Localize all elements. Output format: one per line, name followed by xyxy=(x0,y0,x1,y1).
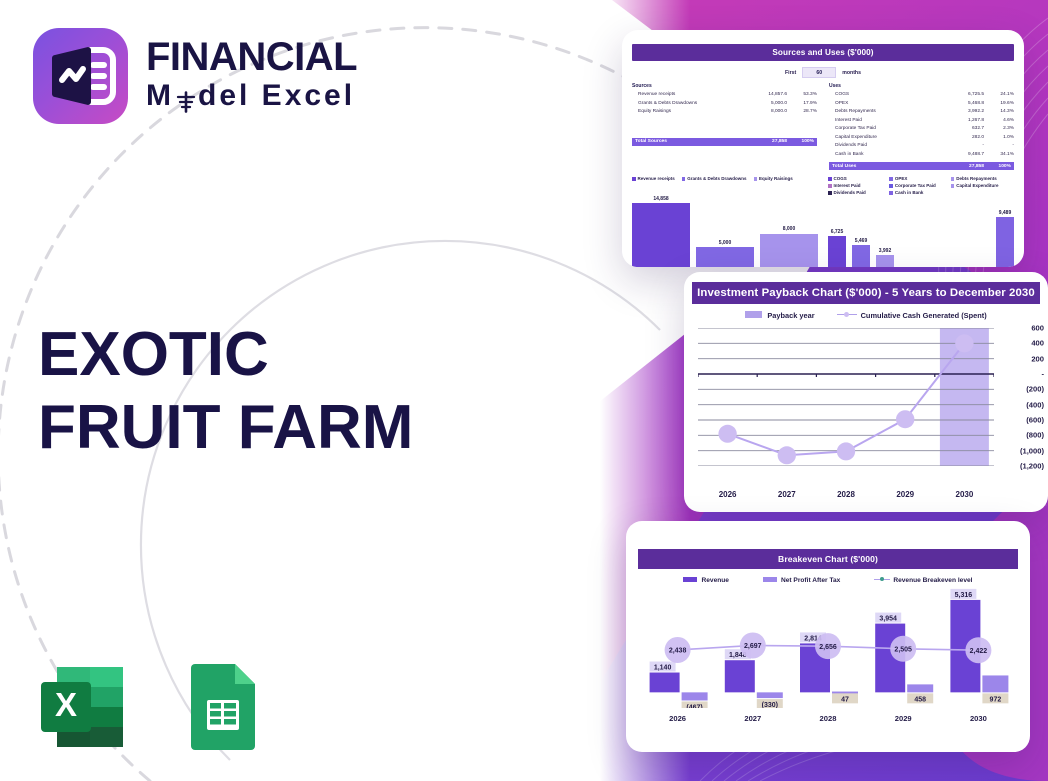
payback-plot: 600400200-(200)(400)(600)(800)(1,000)(1,… xyxy=(698,328,994,466)
revenue-value-label: 1,140 xyxy=(654,665,672,672)
sources-row-value: 8,000.0 xyxy=(745,108,787,117)
y-axis-tick-label: (600) xyxy=(1026,416,1044,425)
bar-column: 5,469 xyxy=(852,201,870,267)
uses-row-value: 9,488.7 xyxy=(942,151,984,160)
legend-line-marker xyxy=(874,576,890,582)
npat-value-label: 458 xyxy=(914,696,926,703)
x-axis-tick-label: 2026 xyxy=(640,714,715,723)
bar-column: 3,992 xyxy=(876,201,894,267)
table-row: Interest Paid1,267.84.6% xyxy=(829,117,1014,126)
brand-lockup: FINANCIAL M del Excel xyxy=(33,28,357,124)
breakeven-title: Breakeven Chart ($'000) xyxy=(638,549,1018,569)
npat-value-label: (467) xyxy=(686,704,702,708)
left-content-column: FINANCIAL M del Excel xyxy=(0,0,470,781)
table-row: Debts Repayments3,992.214.3% xyxy=(829,108,1014,117)
y-axis-tick-label: - xyxy=(1041,370,1044,379)
bar-value-label: 14,858 xyxy=(653,196,668,202)
bar-column: 0 xyxy=(972,201,990,267)
svg-text:X: X xyxy=(55,686,77,723)
uses-row-pct: 1.0% xyxy=(984,134,1014,143)
data-point-marker xyxy=(837,442,855,460)
y-axis-tick-label: (1,200) xyxy=(1020,462,1044,471)
microsoft-excel-icon: X xyxy=(33,658,131,756)
data-point-marker xyxy=(896,410,914,428)
sources-row-pct: 17.9% xyxy=(787,100,817,109)
uses-row-value: 5,468.8 xyxy=(942,100,984,109)
bar xyxy=(760,234,818,267)
legend-label: Payback year xyxy=(767,311,814,320)
revenue-bar xyxy=(725,660,755,692)
legend-swatch xyxy=(828,191,832,195)
sources-total-value: 27,858 xyxy=(745,139,787,144)
x-axis-tick-label: 2027 xyxy=(715,714,790,723)
uses-row-pct: 34.1% xyxy=(984,151,1014,160)
uses-row-pct: 19.6% xyxy=(984,100,1014,109)
x-axis-tick-label: 2028 xyxy=(816,490,875,499)
uses-row-value: 6,725.5 xyxy=(942,91,984,100)
y-axis-tick-label: (400) xyxy=(1026,400,1044,409)
table-row: Grants & Debts Drawdowns5,000.017.9% xyxy=(632,100,817,109)
period-selector[interactable]: First 60 months xyxy=(622,67,1024,78)
bar-column: 633 xyxy=(924,201,942,267)
legend-item: Debts Repayments xyxy=(951,176,1012,181)
legend-label: Corporate Tax Paid xyxy=(895,183,936,188)
legend-swatch xyxy=(889,177,893,181)
uses-total-value: 27,858 xyxy=(942,164,984,169)
revenue-bar xyxy=(650,673,680,693)
x-axis-tick-label: 2029 xyxy=(876,490,935,499)
breakeven-x-axis-labels: 20262027202820292030 xyxy=(640,714,1016,723)
legend-swatch xyxy=(682,177,686,181)
legend-label: Revenue receipts xyxy=(638,176,675,181)
bar-value-label: 5,469 xyxy=(855,238,868,244)
breakeven-value-label: 2,422 xyxy=(970,648,988,655)
uses-row-label: Dividends Paid xyxy=(829,142,942,151)
legend-swatch xyxy=(828,177,832,181)
investment-payback-card: Investment Payback Chart ($'000) - 5 Yea… xyxy=(684,272,1048,512)
uses-row-label: Debts Repayments xyxy=(829,108,942,117)
legend-swatch xyxy=(754,177,758,181)
npat-value-label: 972 xyxy=(990,696,1002,703)
bar xyxy=(696,247,754,267)
data-point-marker xyxy=(955,334,973,352)
google-sheets-icon xyxy=(173,658,271,756)
sources-and-uses-card: Sources and Uses ($'000) First 60 months… xyxy=(622,30,1024,267)
legend-label: COGS xyxy=(834,176,847,181)
revenue-value-label: 5,316 xyxy=(955,592,973,599)
brand-o-glyph-icon xyxy=(175,85,197,107)
uses-row-label: Interest Paid xyxy=(829,117,942,126)
breakeven-value-label: 2,697 xyxy=(744,643,762,650)
poster-canvas: FINANCIAL M del Excel xyxy=(0,0,1048,781)
uses-row-value: 1,267.8 xyxy=(942,117,984,126)
table-row: COGS6,725.524.1% xyxy=(829,91,1014,100)
revenue-value-label: 3,954 xyxy=(879,616,897,623)
legend-swatch xyxy=(828,184,832,188)
net-profit-after-tax-bar xyxy=(982,675,1008,692)
breakeven-legend: RevenueNet Profit After TaxRevenue Break… xyxy=(626,576,1030,584)
breakeven-card: Breakeven Chart ($'000) RevenueNet Profi… xyxy=(626,521,1030,752)
table-row: Cash in Bank9,488.734.1% xyxy=(829,151,1014,160)
legend-line-marker xyxy=(837,311,857,318)
bar-value-label: 3,992 xyxy=(879,248,892,254)
payback-x-axis-labels: 20262027202820292030 xyxy=(698,490,994,499)
legend-item: Cumulative Cash Generated (Spent) xyxy=(837,311,987,320)
x-axis-tick-label: 2027 xyxy=(757,490,816,499)
breakeven-chart-svg: 1,140(467)1,848(330)2,814473,9544585,316… xyxy=(640,588,1016,708)
legend-label: Dividends Paid xyxy=(834,190,866,195)
payback-title: Investment Payback Chart ($'000) - 5 Yea… xyxy=(692,282,1040,304)
legend-item: Revenue Breakeven level xyxy=(874,576,972,584)
bar-column: 5,000 xyxy=(696,187,754,267)
data-point-marker xyxy=(718,425,736,443)
uses-row-pct: 4.6% xyxy=(984,117,1014,126)
table-row: Corporate Tax Paid632.72.3% xyxy=(829,125,1014,134)
breakeven-value-label: 2,505 xyxy=(894,646,912,653)
uses-header: Uses xyxy=(829,83,1014,89)
bar-value-label: 6,725 xyxy=(831,229,844,235)
payback-y-axis-labels: 600400200-(200)(400)(600)(800)(1,000)(1,… xyxy=(996,328,1044,466)
uses-chart-legend: COGSOPEXDebts RepaymentsInterest PaidCor… xyxy=(828,176,1014,197)
x-axis-tick-label: 2029 xyxy=(866,714,941,723)
sources-spacer xyxy=(632,117,817,135)
net-profit-after-tax-bar xyxy=(907,684,933,692)
legend-label: OPEX xyxy=(895,176,908,181)
uses-row-label: Capital Expenditure xyxy=(829,134,942,143)
legend-item: Net Profit After Tax xyxy=(763,577,840,584)
legend-item: OPEX xyxy=(889,176,950,181)
period-prefix-label: First xyxy=(785,70,796,76)
uses-row-label: Cash in Bank xyxy=(829,151,942,160)
table-row: OPEX5,468.819.6% xyxy=(829,100,1014,109)
legend-item: Payback year xyxy=(745,311,814,320)
table-row: Capital Expenditure282.01.0% xyxy=(829,134,1014,143)
bar-column: 282 xyxy=(948,201,966,267)
sources-row-value: 14,857.6 xyxy=(745,91,787,100)
sources-row-label: Revenue receipts xyxy=(632,91,745,100)
brand-name-line2-pre: M xyxy=(146,77,174,115)
uses-row-label: Corporate Tax Paid xyxy=(829,125,942,134)
legend-item: Dividends Paid xyxy=(828,190,889,195)
financial-model-excel-logo-icon xyxy=(33,28,128,124)
uses-total-pct: 100% xyxy=(984,164,1014,169)
uses-bars: 6,7255,4693,9921,26863328209,489 xyxy=(828,197,1014,267)
uses-bar-chart: COGSOPEXDebts RepaymentsInterest PaidCor… xyxy=(828,176,1014,267)
legend-swatch xyxy=(683,577,697,582)
x-axis-tick-label: 2026 xyxy=(698,490,757,499)
net-profit-after-tax-bar xyxy=(757,692,783,698)
table-row: Equity Raisings8,000.028.7% xyxy=(632,108,817,117)
breakeven-value-label: 2,656 xyxy=(819,644,837,651)
uses-row-label: COGS xyxy=(829,91,942,100)
bar-column: 8,000 xyxy=(760,187,818,267)
sources-row-pct: 28.7% xyxy=(787,108,817,117)
legend-label: Revenue Breakeven level xyxy=(893,577,972,584)
npat-value-label: 47 xyxy=(841,696,849,703)
legend-item: COGS xyxy=(828,176,889,181)
bar-value-label: 5,000 xyxy=(719,240,732,246)
legend-swatch xyxy=(763,577,777,582)
legend-item: Revenue xyxy=(683,577,729,584)
legend-swatch xyxy=(889,191,893,195)
legend-swatch xyxy=(632,177,636,181)
brand-name-line2: M del Excel xyxy=(146,77,357,115)
sources-total-row: Total Sources 27,858 100% xyxy=(632,138,817,146)
legend-item: Grants & Debts Drawdowns xyxy=(682,176,747,181)
x-axis-tick-label: 2028 xyxy=(790,714,865,723)
cumulative-cash-line xyxy=(728,343,965,455)
legend-item: Interest Paid xyxy=(828,183,889,188)
sources-table: Sources Revenue receipts14,857.653.3%Gra… xyxy=(632,83,817,170)
sources-total-pct: 100% xyxy=(787,139,817,144)
payback-chart-svg xyxy=(698,328,994,466)
uses-row-value: 3,992.2 xyxy=(942,108,984,117)
x-axis-tick-label: 2030 xyxy=(935,490,994,499)
x-axis-tick-label: 2030 xyxy=(941,714,1016,723)
y-axis-tick-label: (1,000) xyxy=(1020,446,1044,455)
sources-uses-title: Sources and Uses ($'000) xyxy=(632,44,1014,61)
uses-row-value: - xyxy=(942,142,984,151)
bar xyxy=(996,217,1014,267)
legend-label: Cumulative Cash Generated (Spent) xyxy=(861,311,987,320)
y-axis-tick-label: (200) xyxy=(1026,385,1044,394)
legend-swatch xyxy=(951,184,955,188)
bar-column: 1,268 xyxy=(900,201,918,267)
net-profit-after-tax-bar xyxy=(682,692,708,700)
brand-name-line1: FINANCIAL xyxy=(146,37,357,77)
y-axis-tick-label: (800) xyxy=(1026,431,1044,440)
page-title: EXOTIC FRUIT FARM xyxy=(38,318,468,464)
data-point-marker xyxy=(778,446,796,464)
uses-row-pct: 14.3% xyxy=(984,108,1014,117)
legend-swatch xyxy=(951,177,955,181)
uses-row-pct: - xyxy=(984,142,1014,151)
sources-total-label: Total Sources xyxy=(632,139,745,144)
y-axis-tick-label: 400 xyxy=(1031,339,1044,348)
sources-row-pct: 53.3% xyxy=(787,91,817,100)
bar xyxy=(632,203,690,267)
npat-value-label: (330) xyxy=(762,702,778,708)
bar xyxy=(828,236,846,267)
sources-uses-charts: Revenue receiptsGrants & Debts Drawdowns… xyxy=(622,170,1024,267)
payback-legend: Payback yearCumulative Cash Generated (S… xyxy=(684,311,1048,320)
y-axis-tick-label: 600 xyxy=(1031,324,1044,333)
bar xyxy=(852,245,870,267)
uses-row-pct: 24.1% xyxy=(984,91,1014,100)
sources-chart-legend: Revenue receiptsGrants & Debts Drawdowns… xyxy=(632,176,818,183)
brand-name-line2-post: del Excel xyxy=(198,77,355,115)
bar-column: 6,725 xyxy=(828,201,846,267)
sources-row-label: Grants & Debts Drawdowns xyxy=(632,100,745,109)
legend-label: Revenue xyxy=(701,577,729,584)
legend-item: Capital Expenditure xyxy=(951,183,1012,188)
uses-row-value: 632.7 xyxy=(942,125,984,134)
bar xyxy=(876,255,894,267)
legend-item: Equity Raisings xyxy=(754,176,793,181)
y-axis-tick-label: 200 xyxy=(1031,354,1044,363)
period-months-input[interactable]: 60 xyxy=(802,67,836,78)
sources-header: Sources xyxy=(632,83,817,89)
bar-value-label: 8,000 xyxy=(783,226,796,232)
sources-bar-chart: Revenue receiptsGrants & Debts Drawdowns… xyxy=(632,176,818,267)
legend-item: Revenue receipts xyxy=(632,176,675,181)
legend-label: Interest Paid xyxy=(834,183,861,188)
uses-row-pct: 2.3% xyxy=(984,125,1014,134)
legend-label: Grants & Debts Drawdowns xyxy=(687,176,746,181)
period-suffix-label: months xyxy=(842,70,861,76)
legend-item: Cash in Bank xyxy=(889,190,950,195)
sources-bars: 14,8585,0008,000 xyxy=(632,183,818,267)
legend-label: Capital Expenditure xyxy=(956,183,998,188)
sources-row-label: Equity Raisings xyxy=(632,108,745,117)
uses-total-label: Total Uses xyxy=(829,164,942,169)
table-row: Dividends Paid-- xyxy=(829,142,1014,151)
legend-swatch xyxy=(745,311,762,318)
bar-column: 9,489 xyxy=(996,201,1014,267)
legend-label: Cash in Bank xyxy=(895,190,924,195)
legend-item: Corporate Tax Paid xyxy=(889,183,950,188)
table-row: Revenue receipts14,857.653.3% xyxy=(632,91,817,100)
net-profit-after-tax-bar xyxy=(832,692,858,694)
legend-label: Net Profit After Tax xyxy=(781,577,840,584)
sources-uses-tables: Sources Revenue receipts14,857.653.3%Gra… xyxy=(622,78,1024,170)
supported-apps: X xyxy=(33,658,271,756)
breakeven-value-label: 2,438 xyxy=(669,648,687,655)
uses-total-row: Total Uses 27,858 100% xyxy=(829,162,1014,170)
breakeven-plot: 1,140(467)1,848(330)2,814473,9544585,316… xyxy=(640,588,1016,708)
bar-column: 14,858 xyxy=(632,187,690,267)
uses-table: Uses COGS6,725.524.1%OPEX5,468.819.6%Deb… xyxy=(829,83,1014,170)
legend-swatch xyxy=(889,184,893,188)
sources-row-value: 5,000.0 xyxy=(745,100,787,109)
uses-row-label: OPEX xyxy=(829,100,942,109)
uses-row-value: 282.0 xyxy=(942,134,984,143)
bar-value-label: 9,489 xyxy=(999,210,1012,216)
legend-label: Debts Repayments xyxy=(956,176,997,181)
legend-label: Equity Raisings xyxy=(759,176,793,181)
